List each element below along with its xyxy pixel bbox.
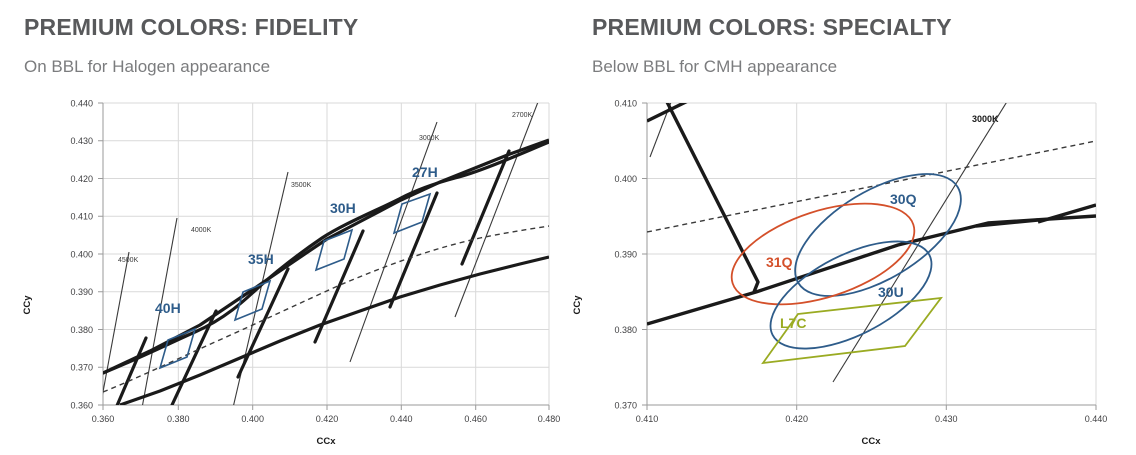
y-tick: 0.400	[614, 174, 637, 184]
y-axis-title-specialty: CCy	[572, 295, 583, 315]
x-tick: 0.410	[636, 414, 659, 424]
cct-label-4500k: 4500K	[118, 257, 139, 264]
cct-label-2700k: 2700K	[512, 112, 533, 119]
axes-fidelity	[98, 103, 549, 410]
page-subtitle-specialty: Below BBL for CMH appearance	[592, 57, 837, 77]
panel-fidelity: PREMIUM COLORS: FIDELITY On BBL for Halo…	[0, 0, 568, 455]
y-tick: 0.430	[70, 136, 93, 146]
ansi-bin-separators-fidelity	[110, 151, 509, 422]
y-tick: 0.380	[70, 325, 93, 335]
x-tick-labels-fidelity: 0.360 0.380 0.400 0.420 0.440 0.460 0.48…	[92, 414, 561, 424]
x-tick: 0.420	[316, 414, 339, 424]
bin-ellipse-30U	[754, 219, 947, 370]
y-tick: 0.370	[70, 363, 93, 373]
x-axis-title-specialty: CCx	[861, 436, 881, 447]
bin-label-40H: 40H	[155, 300, 181, 316]
axes-specialty	[642, 103, 1096, 410]
y-tick: 0.410	[70, 212, 93, 222]
x-tick: 0.440	[390, 414, 413, 424]
cct-label-3000k: 3000K	[419, 135, 440, 142]
x-axis-title-fidelity: CCx	[316, 436, 336, 447]
x-tick: 0.360	[92, 414, 115, 424]
bin-label-31Q: 31Q	[766, 254, 793, 270]
panel-specialty: PREMIUM COLORS: SPECIALTY Below BBL for …	[568, 0, 1136, 455]
bin-label-27H: 27H	[412, 164, 438, 180]
x-tick: 0.460	[464, 414, 487, 424]
x-tick: 0.440	[1085, 414, 1108, 424]
x-tick-labels-specialty: 0.410 0.420 0.430 0.440	[636, 414, 1108, 424]
x-tick: 0.400	[241, 414, 264, 424]
bin-label-L7C: L7C	[780, 315, 806, 331]
cct-label-3000k-specialty: 3000K	[972, 114, 999, 124]
y-tick: 0.380	[614, 325, 637, 335]
chart-fidelity-svg: CCy	[0, 92, 568, 455]
y-tick: 0.440	[70, 99, 93, 109]
y-tick: 0.410	[614, 99, 637, 109]
y-tick: 0.420	[70, 174, 93, 184]
page-title-specialty: PREMIUM COLORS: SPECIALTY	[592, 14, 952, 41]
bin-label-30Q: 30Q	[890, 191, 917, 207]
x-tick: 0.420	[785, 414, 808, 424]
bin-label-35H: 35H	[248, 251, 274, 267]
bin-label-30U: 30U	[878, 284, 904, 300]
x-tick: 0.480	[538, 414, 561, 424]
ansi-boundaries-specialty	[647, 96, 1096, 324]
x-tick: 0.430	[935, 414, 958, 424]
y-tick: 0.370	[614, 401, 637, 411]
bbl-curve-specialty	[647, 141, 1096, 232]
y-tick-labels-fidelity: 0.440 0.430 0.420 0.410 0.400 0.390 0.38…	[70, 99, 93, 411]
chart-fidelity: CCy	[0, 92, 568, 455]
y-axis-title-fidelity: CCy	[22, 295, 33, 315]
page-subtitle-fidelity: On BBL for Halogen appearance	[24, 57, 270, 77]
cct-label-3500k: 3500K	[291, 182, 312, 189]
y-tick: 0.390	[70, 287, 93, 297]
x-tick: 0.380	[167, 414, 190, 424]
y-tick: 0.390	[614, 250, 637, 260]
bin-label-30H: 30H	[330, 200, 356, 216]
chart-specialty: CCy	[568, 92, 1136, 455]
y-tick-labels-specialty: 0.410 0.400 0.390 0.380 0.370	[614, 99, 637, 411]
y-tick: 0.400	[70, 250, 93, 260]
chromaticity-diagram-page: PREMIUM COLORS: FIDELITY On BBL for Halo…	[0, 0, 1136, 455]
ansi-lower-boundary-fidelity	[120, 257, 549, 405]
cct-label-4000k: 4000K	[191, 227, 212, 234]
chart-specialty-svg: CCy	[568, 92, 1136, 455]
page-title-fidelity: PREMIUM COLORS: FIDELITY	[24, 14, 358, 41]
y-tick: 0.360	[70, 401, 93, 411]
cct-isotherm-lines-specialty	[650, 97, 1008, 382]
